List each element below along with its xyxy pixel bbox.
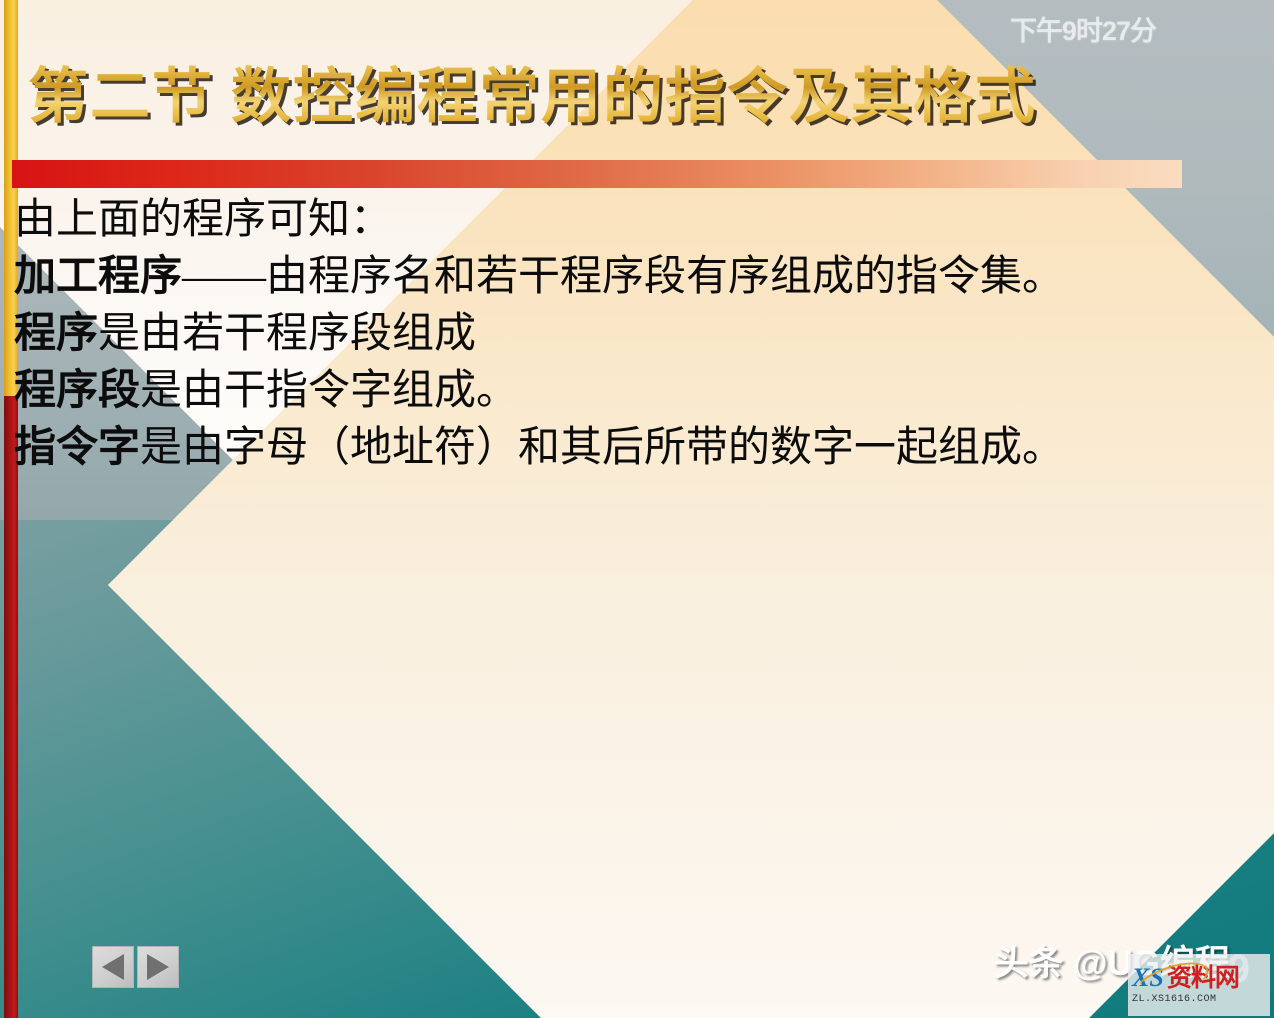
body-line-rest: 是由干指令字组成。 (140, 368, 518, 414)
slide-title: 第二节 数控编程常用的指令及其格式 (28, 48, 1037, 135)
slide-navigation (92, 946, 179, 988)
body-line: 程序是由若干程序段组成 (14, 306, 1264, 363)
body-line-rest: 是由字母（地址符）和其后所带的数字一起组成。 (140, 425, 1064, 471)
body-line-rest: 由上面的程序可知： (14, 197, 392, 243)
body-line: 程序段是由干指令字组成。 (14, 363, 1264, 420)
body-line: 由上面的程序可知： (14, 192, 1264, 249)
body-line-rest: 是由若干程序段组成 (98, 311, 476, 357)
body-line-lead: 加工程序 (14, 254, 182, 300)
body-line: 指令字是由字母（地址符）和其后所带的数字一起组成。 (14, 420, 1264, 477)
triangle-right-icon (147, 954, 169, 980)
body-line: 加工程序——由程序名和若干程序段有序组成的指令集。 (14, 249, 1264, 306)
next-slide-button[interactable] (137, 946, 179, 988)
previous-slide-button[interactable] (92, 946, 134, 988)
body-line-lead: 程序段 (14, 368, 140, 414)
left-red-bar (4, 396, 18, 1018)
presentation-slide: 下午9时27分 第二节 数控编程常用的指令及其格式 由上面的程序可知： 加工程序… (0, 0, 1274, 1018)
triangle-left-icon (102, 954, 124, 980)
clock-timestamp: 下午9时27分 (1010, 9, 1156, 48)
slide-body-text: 由上面的程序可知： 加工程序——由程序名和若干程序段有序组成的指令集。 程序是由… (14, 192, 1264, 477)
body-line-rest: ——由程序名和若干程序段有序组成的指令集。 (182, 254, 1064, 300)
title-underline-band (12, 160, 1182, 188)
site-logo: XS 资料网 ZL.XS1616.COM (1128, 954, 1270, 1016)
body-line-lead: 程序 (14, 311, 98, 357)
body-line-lead: 指令字 (14, 425, 140, 471)
